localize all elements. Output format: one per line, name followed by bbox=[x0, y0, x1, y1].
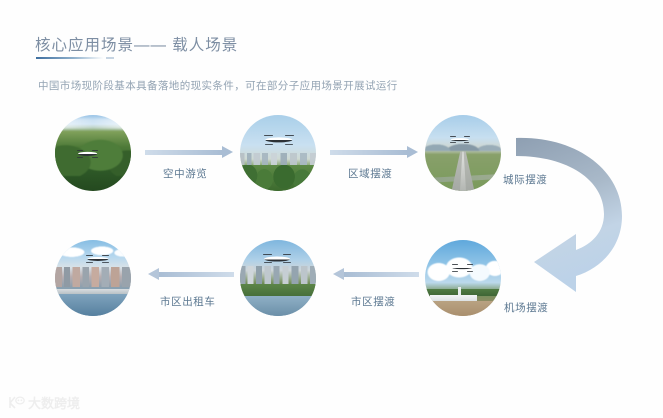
flow-arrow-3-curved bbox=[498, 124, 658, 300]
flow-arrow-6 bbox=[148, 268, 234, 280]
evtol-aircraft-icon bbox=[264, 252, 290, 265]
evtol-aircraft-icon bbox=[265, 133, 292, 147]
flow-node-5[interactable] bbox=[240, 240, 316, 316]
title-underline bbox=[36, 57, 104, 59]
scene-city-skyline-park bbox=[240, 115, 316, 191]
city-towers bbox=[240, 266, 316, 286]
green-belt bbox=[240, 284, 316, 296]
page-subtitle: 中国市场现阶段基本具备落地的现实条件，可在部分子应用场景开展试运行 bbox=[38, 78, 398, 93]
flow-node-1[interactable] bbox=[55, 115, 131, 191]
flow-arrow-1 bbox=[145, 146, 233, 158]
title-underline-dot bbox=[106, 57, 114, 59]
scene-airport-clouds bbox=[425, 240, 501, 316]
flow-label-6: 市区出租车 bbox=[160, 294, 216, 309]
evtol-aircraft-icon bbox=[452, 263, 472, 273]
flow-node-2[interactable] bbox=[240, 115, 316, 191]
river bbox=[55, 294, 131, 316]
page-title: 核心应用场景—— 载人场景 bbox=[35, 33, 238, 55]
scene-city-bridge-river bbox=[55, 240, 131, 316]
evtol-aircraft-icon bbox=[78, 148, 98, 159]
city-blocks bbox=[55, 267, 131, 287]
watermark-text: 大数跨境 bbox=[28, 393, 80, 412]
flow-label-1: 空中游览 bbox=[163, 166, 207, 181]
flow-label-4: 机场摆渡 bbox=[504, 300, 548, 315]
flow-node-3[interactable] bbox=[425, 115, 501, 191]
river bbox=[240, 296, 316, 316]
flow-node-6[interactable] bbox=[55, 240, 131, 316]
flow-label-2: 区域摆渡 bbox=[348, 166, 392, 181]
flow-arrow-5 bbox=[333, 268, 419, 280]
flow-label-5: 市区摆渡 bbox=[351, 294, 395, 309]
slide-canvas: 核心应用场景—— 载人场景 中国市场现阶段基本具备落地的现实条件，可在部分子应用… bbox=[0, 0, 663, 418]
brand-logo-icon bbox=[8, 395, 25, 410]
apron bbox=[425, 301, 501, 316]
city-skyline bbox=[240, 153, 316, 165]
evtol-aircraft-icon bbox=[87, 254, 108, 265]
cloud-band bbox=[55, 118, 131, 129]
watermark: 大数跨境 bbox=[8, 393, 80, 412]
scene-runway-airfield bbox=[425, 115, 501, 191]
flow-label-3: 城际摆渡 bbox=[503, 172, 547, 187]
park-treeline bbox=[240, 165, 316, 191]
flow-node-4[interactable] bbox=[425, 240, 501, 316]
evtol-aircraft-icon bbox=[451, 135, 469, 145]
flow-arrow-2 bbox=[330, 146, 418, 158]
